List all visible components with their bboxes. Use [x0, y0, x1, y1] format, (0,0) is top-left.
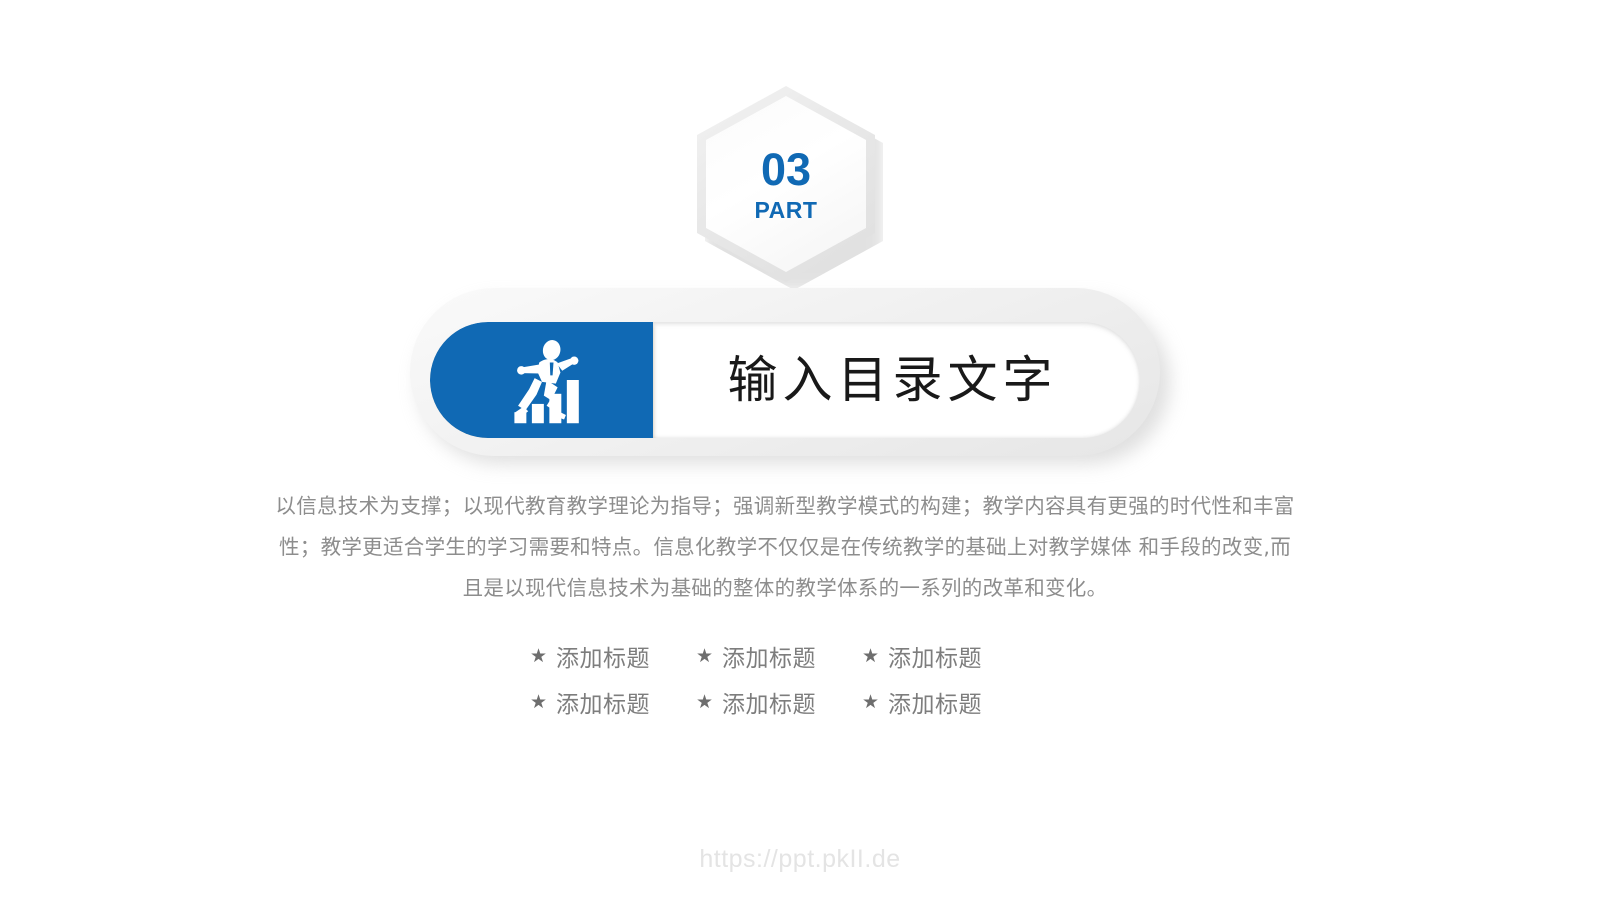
- body-paragraph: 以信息技术为支撑；以现代教育教学理论为指导；强调新型教学模式的构建；教学内容具有…: [270, 486, 1300, 609]
- title-pill-bar: 输入目录文字: [410, 288, 1170, 466]
- bullet-label: 添加标题: [888, 639, 982, 673]
- bullet-row: ★ 添加标题 ★ 添加标题 ★ 添加标题: [530, 679, 1050, 725]
- person-climbing-bar-chart-icon: [496, 334, 588, 426]
- list-item[interactable]: ★ 添加标题: [696, 685, 862, 719]
- star-icon: ★: [696, 693, 713, 712]
- star-icon: ★: [530, 693, 547, 712]
- bullet-label: 添加标题: [556, 685, 650, 719]
- list-item[interactable]: ★ 添加标题: [530, 639, 696, 673]
- pill-inner-face: 输入目录文字: [430, 322, 1140, 438]
- title-text-block: 输入目录文字: [653, 322, 1140, 438]
- footer-watermark-url: https://ppt.pkII.de: [0, 845, 1600, 874]
- section-badge-hexagon: 03 PART: [697, 86, 887, 286]
- bullet-label: 添加标题: [722, 685, 816, 719]
- list-item[interactable]: ★ 添加标题: [696, 639, 862, 673]
- star-icon: ★: [862, 693, 879, 712]
- title-icon-block: [430, 322, 653, 438]
- list-item[interactable]: ★ 添加标题: [530, 685, 696, 719]
- list-item[interactable]: ★ 添加标题: [862, 685, 1028, 719]
- section-part-label: PART: [755, 199, 818, 222]
- section-title: 输入目录文字: [728, 355, 1058, 405]
- bullet-grid: ★ 添加标题 ★ 添加标题 ★ 添加标题 ★ 添加标题 ★ 添加标题 ★: [530, 633, 1050, 725]
- slide-canvas: 03 PART: [0, 0, 1600, 900]
- bullet-label: 添加标题: [722, 639, 816, 673]
- star-icon: ★: [862, 647, 879, 666]
- section-number: 03: [761, 147, 811, 192]
- list-item[interactable]: ★ 添加标题: [862, 639, 1028, 673]
- star-icon: ★: [530, 647, 547, 666]
- bullet-label: 添加标题: [556, 639, 650, 673]
- bullet-label: 添加标题: [888, 685, 982, 719]
- star-icon: ★: [696, 647, 713, 666]
- bullet-row: ★ 添加标题 ★ 添加标题 ★ 添加标题: [530, 633, 1050, 679]
